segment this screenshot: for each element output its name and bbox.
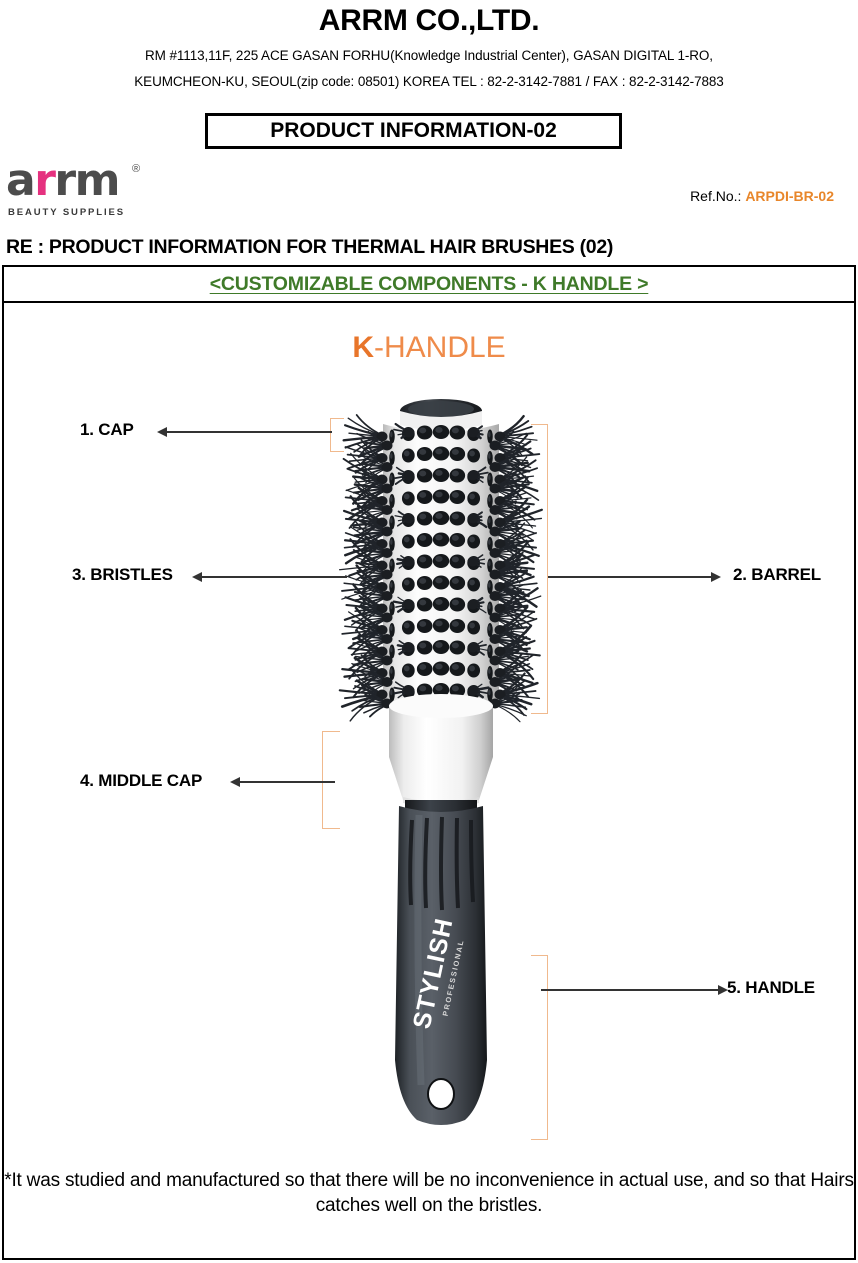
leader-line-bristles [202, 576, 347, 578]
callout-middle-cap: 4. MIDDLE CAP [80, 771, 202, 791]
arrowhead-bristles [192, 572, 202, 582]
callout-barrel: 2. BARREL [733, 565, 821, 585]
arrowhead-middle-cap [230, 777, 240, 787]
leader-line-barrel [548, 576, 711, 578]
leader-line-handle [541, 989, 718, 991]
bracket-handle [531, 955, 548, 1140]
product-information-sheet: ARRM CO.,LTD. RM #1113,11F, 225 ACE GASA… [0, 0, 858, 1263]
arrowhead-cap [157, 427, 167, 437]
callout-handle: 5. HANDLE [727, 978, 815, 998]
arrowhead-barrel [711, 572, 721, 582]
footnote: *It was studied and manufactured so that… [0, 1168, 858, 1218]
leader-line-middle-cap [240, 781, 335, 783]
bracket-barrel [531, 424, 548, 714]
thermal-hair-brush-illustration: STYLISH PROFESSIONAL [0, 0, 858, 1263]
callout-cap: 1. CAP [80, 420, 134, 440]
bracket-cap [330, 418, 344, 452]
callout-bristles: 3. BRISTLES [72, 565, 173, 585]
bracket-middle-cap [322, 731, 340, 829]
brush-middle-cap [389, 694, 493, 808]
leader-line-cap [167, 431, 332, 433]
